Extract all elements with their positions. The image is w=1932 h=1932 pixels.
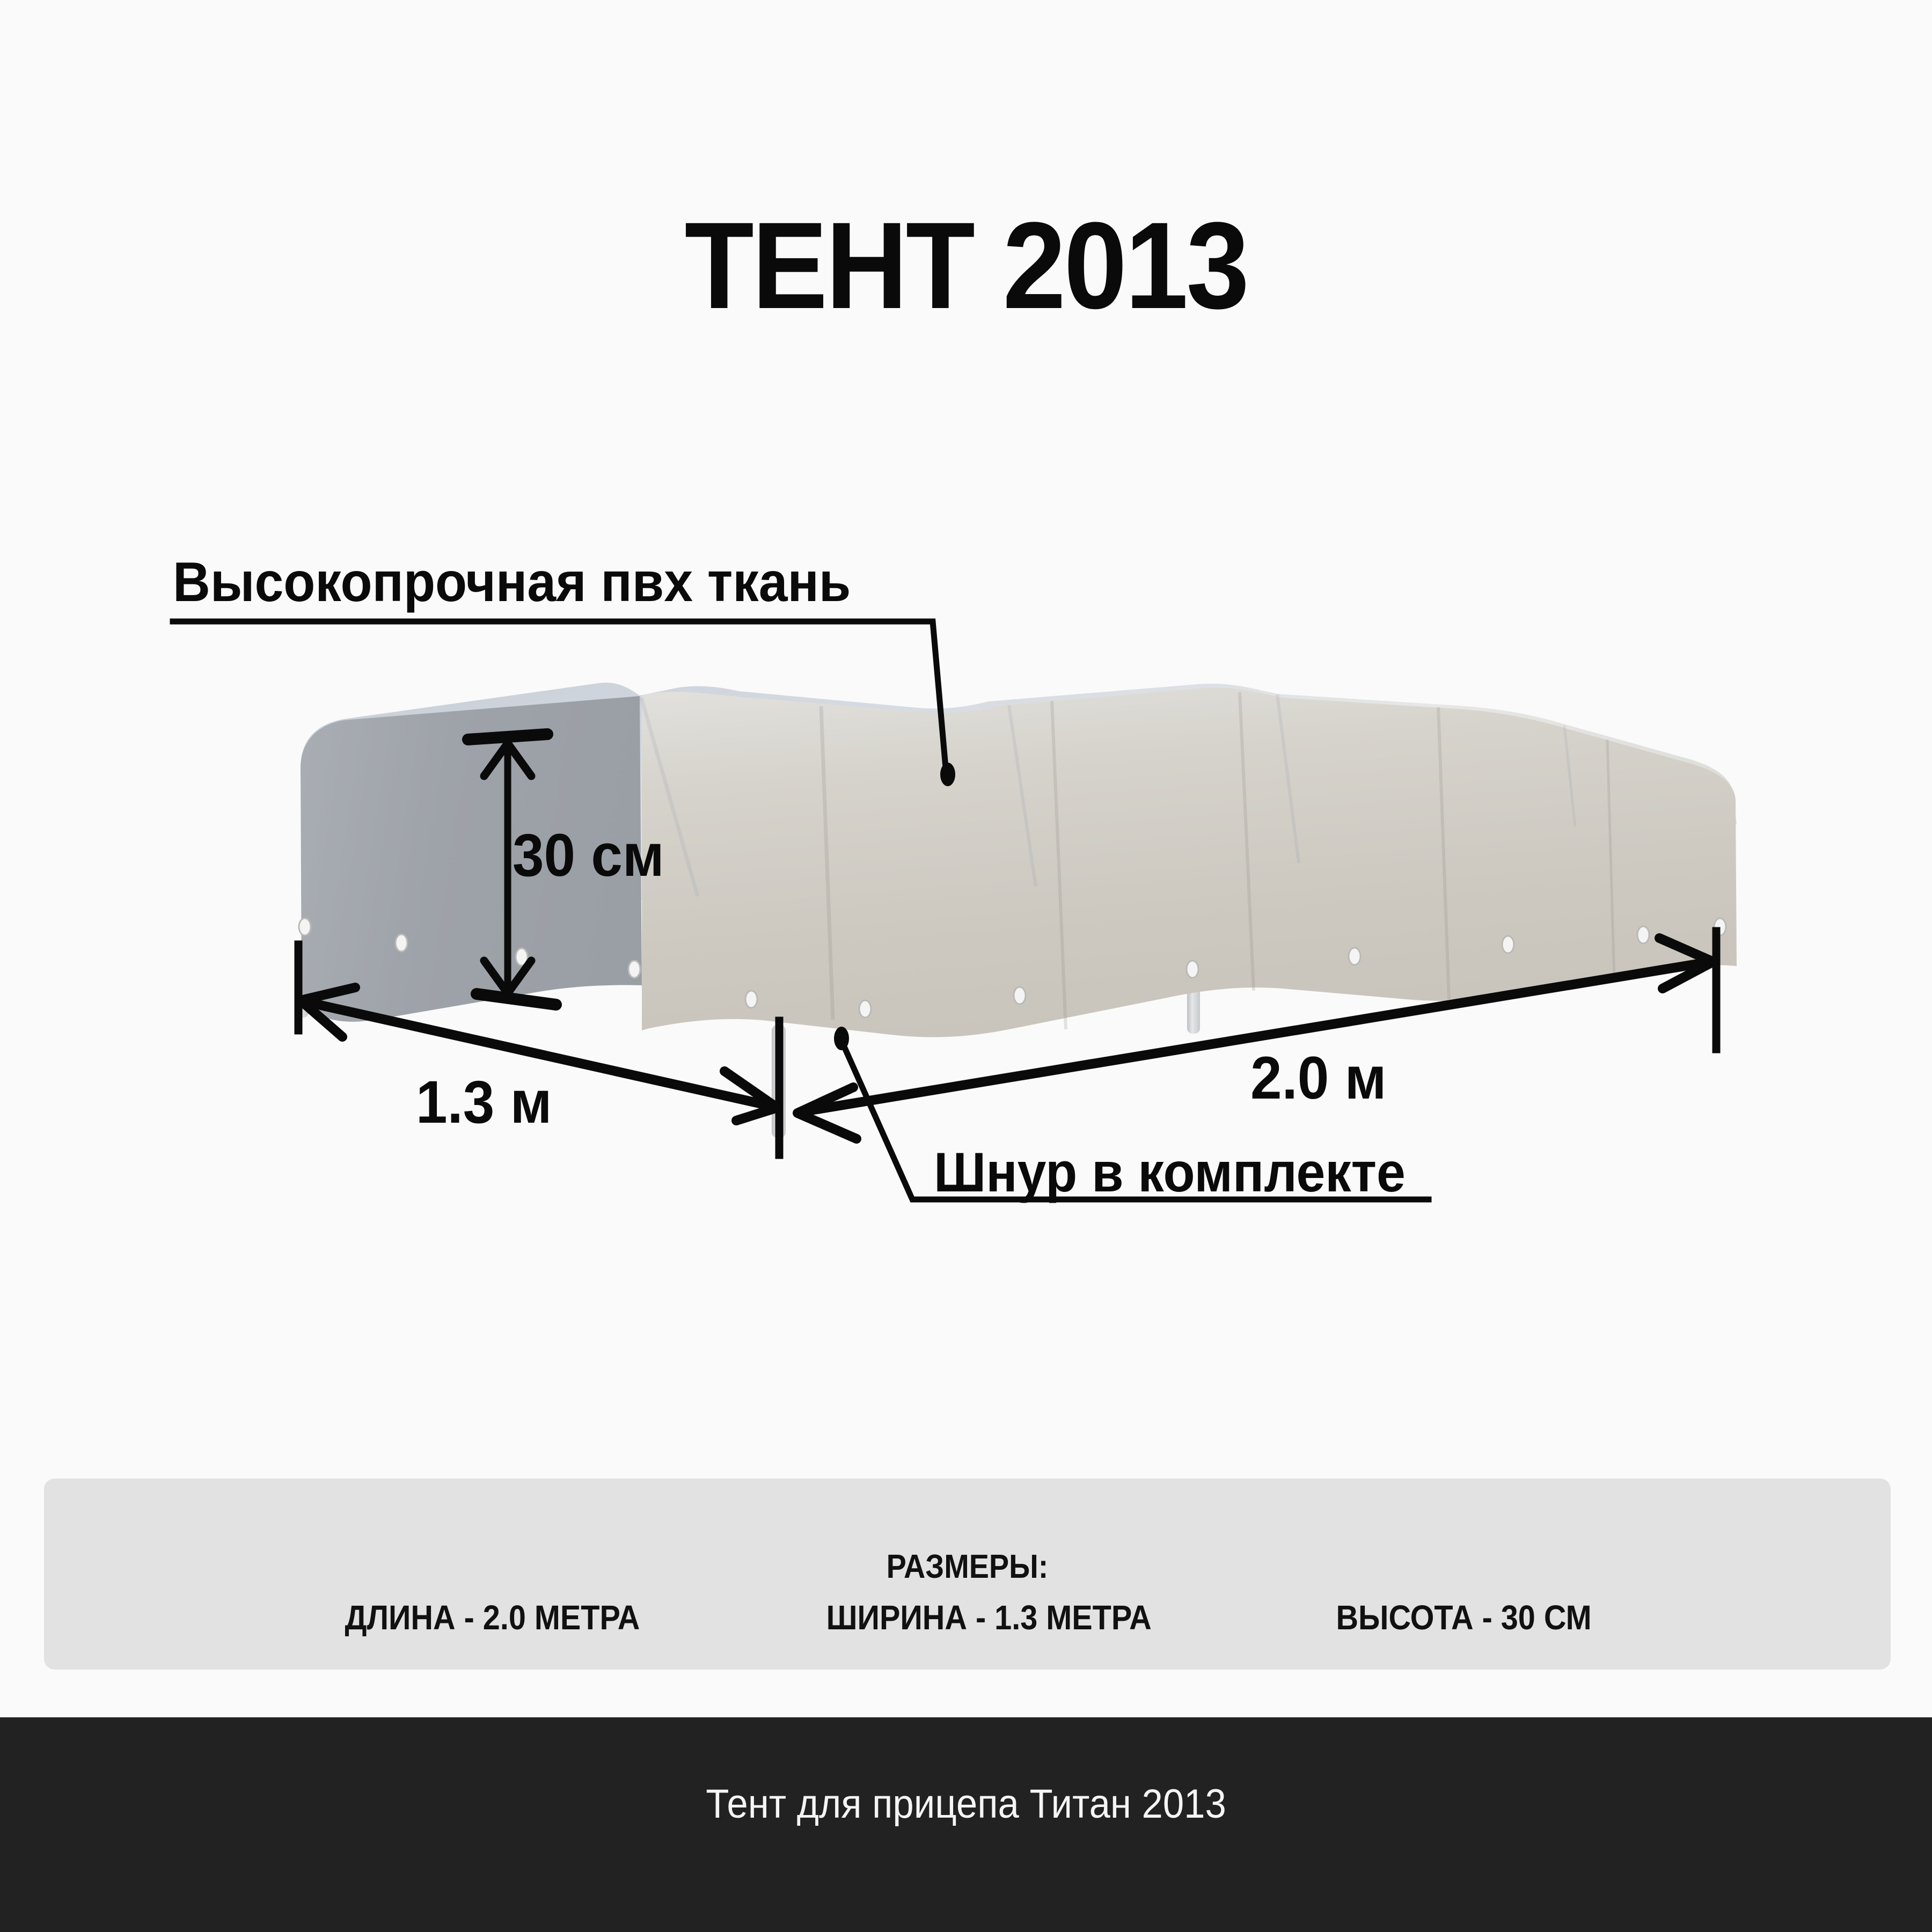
spec-item-width: ШИРИНА - 1.3 МЕТРА — [826, 1599, 1152, 1636]
dimension-height-label: 30 см — [513, 824, 664, 887]
specifications-heading: РАЗМЕРЫ: — [136, 1549, 1798, 1585]
spec-item-height: ВЫСОТА - 30 СМ — [1336, 1599, 1591, 1636]
product-illustration: Высокопрочная пвх ткань Шнур в комплекте… — [0, 0, 1932, 1449]
spec-item-length: ДЛИНА - 2.0 МЕТРА — [345, 1599, 640, 1636]
specifications-bar: РАЗМЕРЫ: ДЛИНА - 2.0 МЕТРА ШИРИНА - 1.3 … — [44, 1479, 1891, 1670]
footer-product-name: Тент для прицепа Титан 2013 — [68, 1782, 1864, 1827]
specifications-list: ДЛИНА - 2.0 МЕТРА ШИРИНА - 1.3 МЕТРА ВЫС… — [328, 1599, 1606, 1636]
annotation-fabric-label: Высокопрочная пвх ткань — [173, 553, 851, 612]
product-infographic-page: ТЕНТ 2013 — [0, 0, 1932, 1932]
dimension-width-label: 1.3 м — [416, 1071, 552, 1134]
annotation-cord-label: Шнур в комплекте — [934, 1143, 1406, 1202]
dimension-length-label: 2.0 м — [1250, 1046, 1386, 1110]
footer-bar: Тент для прицепа Титан 2013 — [0, 1717, 1932, 1932]
